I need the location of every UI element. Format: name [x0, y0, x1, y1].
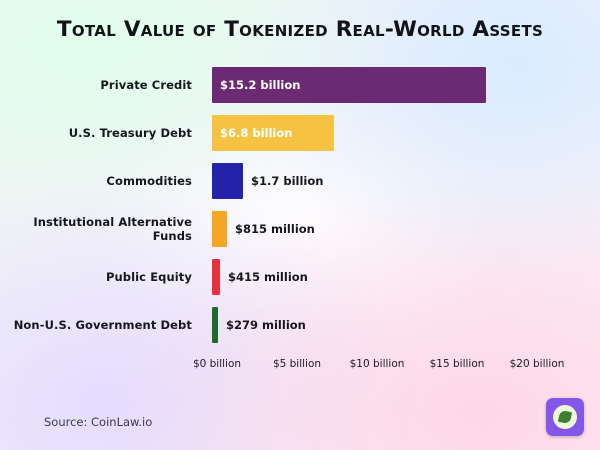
bar[interactable] [212, 163, 243, 199]
page-title: Total Value of Tokenized Real-World Asse… [0, 17, 600, 42]
bar[interactable] [212, 211, 227, 247]
bar-row: Public Equity $415 million [0, 254, 600, 300]
bar-value-label: $1.7 billion [251, 174, 323, 188]
category-label: Institutional Alternative Funds [0, 206, 202, 252]
x-axis-tick: $20 billion [510, 358, 565, 370]
coinlaw-logo-icon [546, 398, 584, 436]
bar-value-label: $6.8 billion [220, 126, 292, 140]
bar-value-label: $15.2 billion [220, 78, 300, 92]
bar[interactable] [212, 259, 220, 295]
x-axis-tick: $10 billion [350, 358, 405, 370]
category-label: Commodities [0, 158, 202, 204]
x-axis-tick: $5 billion [273, 358, 321, 370]
bar-row: Private Credit $15.2 billion [0, 62, 600, 108]
bar-value-label: $815 million [235, 222, 315, 236]
bar[interactable] [212, 307, 218, 343]
category-label: Public Equity [0, 254, 202, 300]
bar-value-label: $279 million [226, 318, 306, 332]
bar-container: $15.2 billion [212, 62, 486, 108]
bar-container: $815 million [212, 206, 227, 252]
chart-canvas: Total Value of Tokenized Real-World Asse… [0, 0, 600, 450]
category-label: Private Credit [0, 62, 202, 108]
bar-value-label: $415 million [228, 270, 308, 284]
logo-disc [553, 405, 577, 429]
source-caption: Source: CoinLaw.io [44, 415, 152, 429]
bar-container: $1.7 billion [212, 158, 243, 204]
plot-area: Private Credit $15.2 billion U.S. Treasu… [0, 62, 600, 362]
bar-row: U.S. Treasury Debt $6.8 billion [0, 110, 600, 156]
bar-container: $415 million [212, 254, 220, 300]
x-axis-tick: $0 billion [193, 358, 241, 370]
x-axis-tick: $15 billion [430, 358, 485, 370]
category-label: U.S. Treasury Debt [0, 110, 202, 156]
x-axis: $0 billion $5 billion $10 billion $15 bi… [212, 358, 572, 378]
category-label: Non-U.S. Government Debt [0, 302, 202, 348]
bar-row: Non-U.S. Government Debt $279 million [0, 302, 600, 348]
logo-leaf-icon [558, 410, 572, 424]
bar-container: $279 million [212, 302, 218, 348]
bar-row: Institutional Alternative Funds $815 mil… [0, 206, 600, 252]
bar-container: $6.8 billion [212, 110, 334, 156]
bar-row: Commodities $1.7 billion [0, 158, 600, 204]
